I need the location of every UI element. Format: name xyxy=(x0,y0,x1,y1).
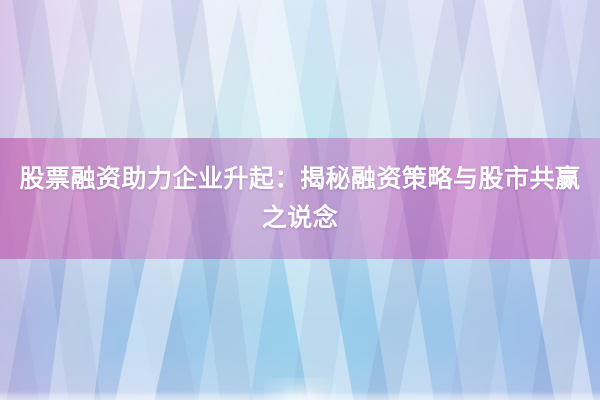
banner-title-line-2: 之说念 xyxy=(262,199,339,238)
banner-title: 股票融资助力企业升起：揭秘融资策略与股市共赢 之说念 xyxy=(0,138,600,259)
cover-banner: 股票融资助力企业升起：揭秘融资策略与股市共赢 之说念 xyxy=(0,0,600,400)
bottom-edge-highlight xyxy=(0,391,600,400)
banner-title-line-1: 股票融资助力企业升起：揭秘融资策略与股市共赢 xyxy=(19,160,580,199)
